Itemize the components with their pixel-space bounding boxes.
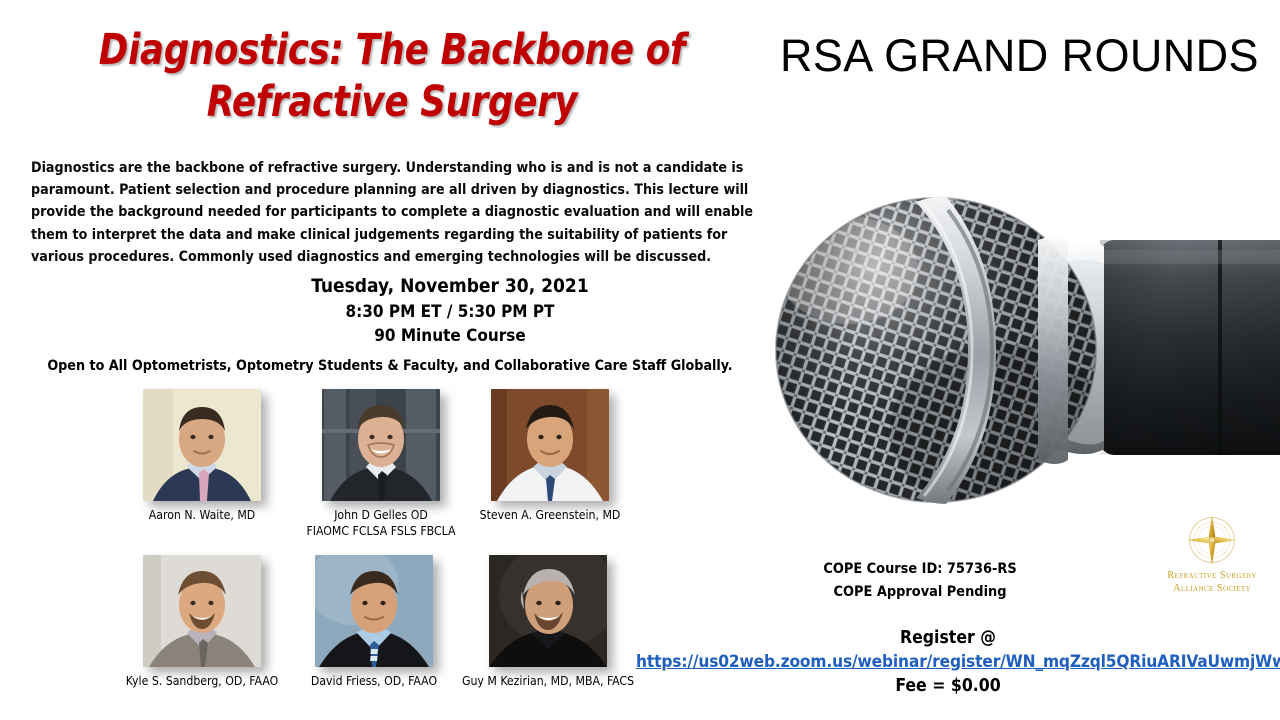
registration-link[interactable]: https://us02web.zoom.us/webinar/register… bbox=[636, 651, 1260, 674]
event-time: 8:30 PM ET / 5:30 PM PT bbox=[150, 300, 750, 324]
registration-fee: Fee = $0.00 bbox=[636, 674, 1260, 699]
avatar bbox=[315, 555, 433, 667]
rsa-logo: Refractive Surgery Alliance Society bbox=[1148, 512, 1276, 595]
speaker-photo-wrap bbox=[143, 555, 261, 667]
avatar bbox=[143, 389, 261, 501]
speaker-card: Aaron N. Waite, MD bbox=[143, 389, 297, 524]
rsa-logo-text: Refractive Surgery Alliance Society bbox=[1148, 569, 1276, 595]
speaker-name: Guy M Kezirian, MD, MBA, FACS bbox=[453, 674, 643, 690]
speaker-card: Kyle S. Sandberg, OD, FAAO bbox=[143, 555, 297, 690]
registration-block: Register @ https://us02web.zoom.us/webin… bbox=[636, 627, 1260, 698]
speaker-card: Steven A. Greenstein, MD bbox=[491, 389, 645, 524]
event-date: Tuesday, November 30, 2021 bbox=[150, 273, 750, 300]
speaker-card: John D Gelles OD FIAOMC FCLSA FSLS FBCLA bbox=[322, 389, 476, 540]
abstract-text: Diagnostics are the backbone of refracti… bbox=[31, 157, 762, 268]
page-title: Diagnostics: The Backbone of Refractive … bbox=[63, 24, 722, 129]
event-duration: 90 Minute Course bbox=[150, 324, 750, 348]
register-heading: Register @ bbox=[636, 627, 1260, 651]
speaker-name: John D Gelles OD FIAOMC FCLSA FSLS FBCLA bbox=[286, 508, 476, 540]
avatar bbox=[143, 555, 261, 667]
speaker-photo-wrap bbox=[322, 389, 440, 501]
avatar bbox=[322, 389, 440, 501]
speaker-photo-wrap bbox=[489, 555, 607, 667]
cope-info: COPE Course ID: 75736-RS COPE Approval P… bbox=[760, 558, 1080, 604]
microphone-image bbox=[748, 100, 1280, 530]
avatar bbox=[491, 389, 609, 501]
speaker-photo-wrap bbox=[143, 389, 261, 501]
speaker-name: Aaron N. Waite, MD bbox=[107, 508, 297, 524]
speaker-photo-wrap bbox=[491, 389, 609, 501]
speaker-card: David Friess, OD, FAAO bbox=[315, 555, 469, 690]
avatar bbox=[489, 555, 607, 667]
compass-rose-icon bbox=[1184, 512, 1240, 568]
speaker-name: Steven A. Greenstein, MD bbox=[455, 508, 645, 524]
speaker-photo-wrap bbox=[315, 555, 433, 667]
flyer-slide: Diagnostics: The Backbone of Refractive … bbox=[0, 0, 1280, 720]
speaker-card: Guy M Kezirian, MD, MBA, FACS bbox=[489, 555, 643, 690]
event-datetime: Tuesday, November 30, 2021 8:30 PM ET / … bbox=[150, 273, 750, 348]
series-title: RSA GRAND ROUNDS bbox=[780, 33, 1260, 78]
audience-line: Open to All Optometrists, Optometry Stud… bbox=[40, 358, 740, 374]
speaker-name: David Friess, OD, FAAO bbox=[279, 674, 469, 690]
speaker-name: Kyle S. Sandberg, OD, FAAO bbox=[107, 674, 297, 690]
